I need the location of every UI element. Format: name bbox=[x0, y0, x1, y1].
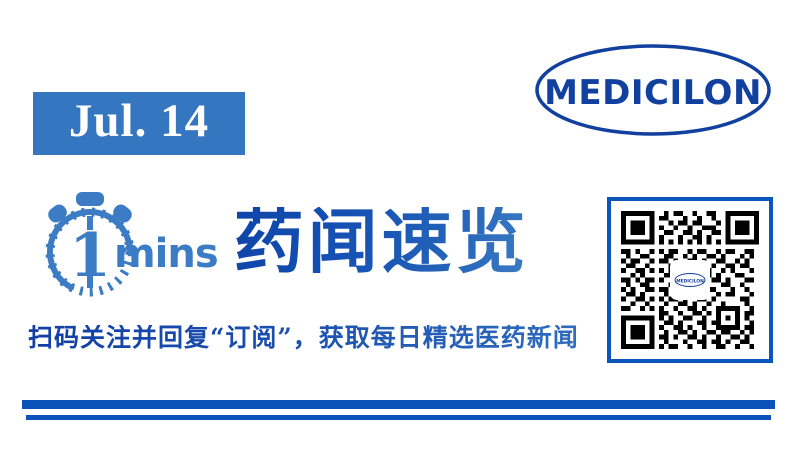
svg-text:MEDICILON: MEDICILON bbox=[544, 73, 762, 113]
masthead: 1 mins 药闻速览 bbox=[38, 188, 530, 300]
date-badge-label: Jul. 14 bbox=[69, 98, 209, 149]
qr-center-logo: MEDICILON bbox=[670, 260, 710, 300]
svg-text:MEDICILON: MEDICILON bbox=[676, 279, 704, 285]
promo-banner: Jul. 14 MEDICILON bbox=[0, 0, 800, 468]
svg-text:1: 1 bbox=[69, 221, 111, 291]
mins-label: mins bbox=[114, 231, 218, 277]
thin-rule bbox=[26, 415, 771, 420]
subtitle-text: 扫码关注并回复“订阅”，获取每日精选医药新闻 bbox=[28, 325, 579, 350]
thick-rule bbox=[22, 400, 775, 409]
date-badge: Jul. 14 bbox=[33, 92, 245, 155]
qr-code-frame[interactable]: MEDICILON bbox=[607, 197, 773, 363]
headline-title: 药闻速览 bbox=[234, 207, 530, 277]
medicilon-logo: MEDICILON bbox=[533, 42, 773, 138]
qr-code[interactable]: MEDICILON bbox=[621, 211, 759, 349]
